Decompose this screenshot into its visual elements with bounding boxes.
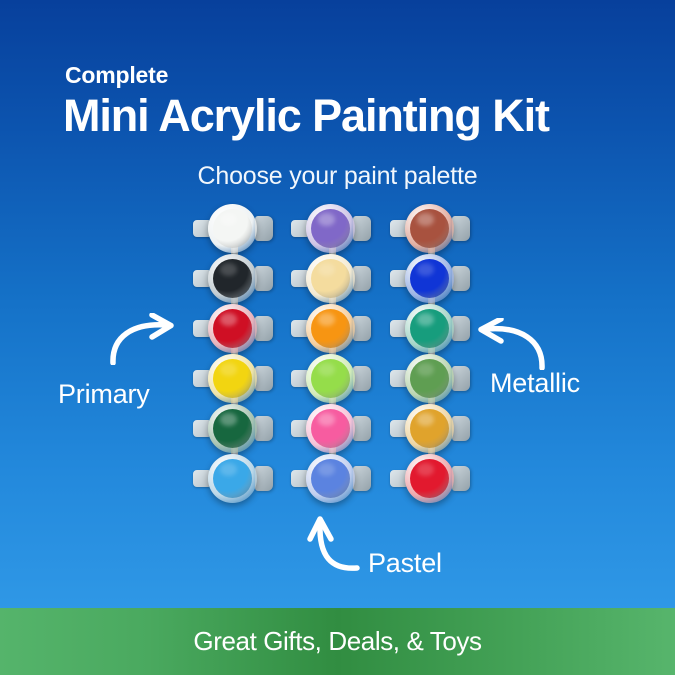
pot-lid-flap — [452, 466, 470, 491]
paint-well-pastel-lime — [311, 359, 350, 398]
palette-strip-pastel[interactable] — [283, 204, 379, 504]
pot-lid-flap — [353, 416, 371, 441]
paint-well-metallic-green — [410, 359, 449, 398]
pot-rim — [208, 204, 257, 253]
product-poster: Complete Mini Acrylic Painting Kit Choos… — [0, 0, 675, 675]
palette-strip-primary[interactable] — [185, 204, 281, 504]
paint-well-pastel-orange — [311, 309, 350, 348]
pot-rim — [208, 354, 257, 403]
paint-well-green — [213, 409, 252, 448]
paint-well-blue — [213, 459, 252, 498]
paint-pot[interactable] — [185, 404, 281, 453]
pot-lid-flap — [452, 366, 470, 391]
footer-banner: Great Gifts, Deals, & Toys — [0, 608, 675, 675]
curved-arrow-left-icon — [468, 318, 548, 375]
pot-lid-flap — [452, 216, 470, 241]
paint-well-metallic-copper — [410, 209, 449, 248]
pot-lid-flap — [255, 466, 273, 491]
pot-rim — [306, 354, 355, 403]
paint-pot[interactable] — [185, 304, 281, 353]
paint-pot[interactable] — [283, 304, 379, 353]
palette-label-primary: Primary — [58, 379, 150, 410]
pot-lid-flap — [255, 366, 273, 391]
paint-well-metallic-gold — [410, 409, 449, 448]
paint-well-white — [213, 209, 252, 248]
paint-well-black — [213, 259, 252, 298]
paint-pot[interactable] — [185, 354, 281, 403]
pot-lid-flap — [255, 416, 273, 441]
paint-pot[interactable] — [382, 354, 478, 403]
palette-label-metallic: Metallic — [490, 368, 580, 399]
pot-lid-flap — [255, 216, 273, 241]
paint-pot[interactable] — [382, 454, 478, 503]
paint-pot[interactable] — [283, 204, 379, 253]
paint-well-metallic-teal — [410, 309, 449, 348]
pot-rim — [405, 254, 454, 303]
paint-pot[interactable] — [185, 204, 281, 253]
paint-pot[interactable] — [283, 454, 379, 503]
paint-pot[interactable] — [185, 254, 281, 303]
curved-arrow-up-icon — [305, 512, 367, 579]
pot-rim — [405, 454, 454, 503]
pot-lid-flap — [353, 366, 371, 391]
pot-rim — [208, 254, 257, 303]
paint-well-metallic-red — [410, 459, 449, 498]
pot-rim — [405, 204, 454, 253]
paint-well-pastel-blue — [311, 459, 350, 498]
pot-rim — [306, 454, 355, 503]
paint-well-pastel-purple — [311, 209, 350, 248]
paint-pot[interactable] — [382, 254, 478, 303]
pot-rim — [405, 404, 454, 453]
paint-pot[interactable] — [382, 204, 478, 253]
pot-lid-flap — [452, 416, 470, 441]
pot-lid-flap — [255, 266, 273, 291]
footer-banner-text: Great Gifts, Deals, & Toys — [193, 626, 481, 657]
pot-rim — [208, 454, 257, 503]
pot-lid-flap — [353, 266, 371, 291]
paint-pot[interactable] — [382, 304, 478, 353]
pot-rim — [306, 254, 355, 303]
pot-rim — [208, 304, 257, 353]
palette-label-pastel: Pastel — [368, 548, 442, 579]
pot-lid-flap — [452, 266, 470, 291]
paint-pot[interactable] — [283, 354, 379, 403]
paint-pot[interactable] — [283, 404, 379, 453]
pot-lid-flap — [452, 316, 470, 341]
curved-arrow-right-icon — [108, 313, 188, 370]
paint-well-pastel-pink — [311, 409, 350, 448]
pot-rim — [405, 354, 454, 403]
pot-rim — [306, 404, 355, 453]
pot-rim — [208, 404, 257, 453]
paint-well-metallic-blue — [410, 259, 449, 298]
pot-lid-flap — [255, 316, 273, 341]
paint-pot[interactable] — [382, 404, 478, 453]
palette-strip-metallic[interactable] — [382, 204, 478, 504]
pot-lid-flap — [353, 466, 371, 491]
paint-well-pastel-cream — [311, 259, 350, 298]
pot-rim — [306, 204, 355, 253]
pot-rim — [306, 304, 355, 353]
paint-pot[interactable] — [185, 454, 281, 503]
pot-rim — [405, 304, 454, 353]
paint-pot[interactable] — [283, 254, 379, 303]
paint-well-red — [213, 309, 252, 348]
pot-lid-flap — [353, 216, 371, 241]
pot-lid-flap — [353, 316, 371, 341]
paint-well-yellow — [213, 359, 252, 398]
